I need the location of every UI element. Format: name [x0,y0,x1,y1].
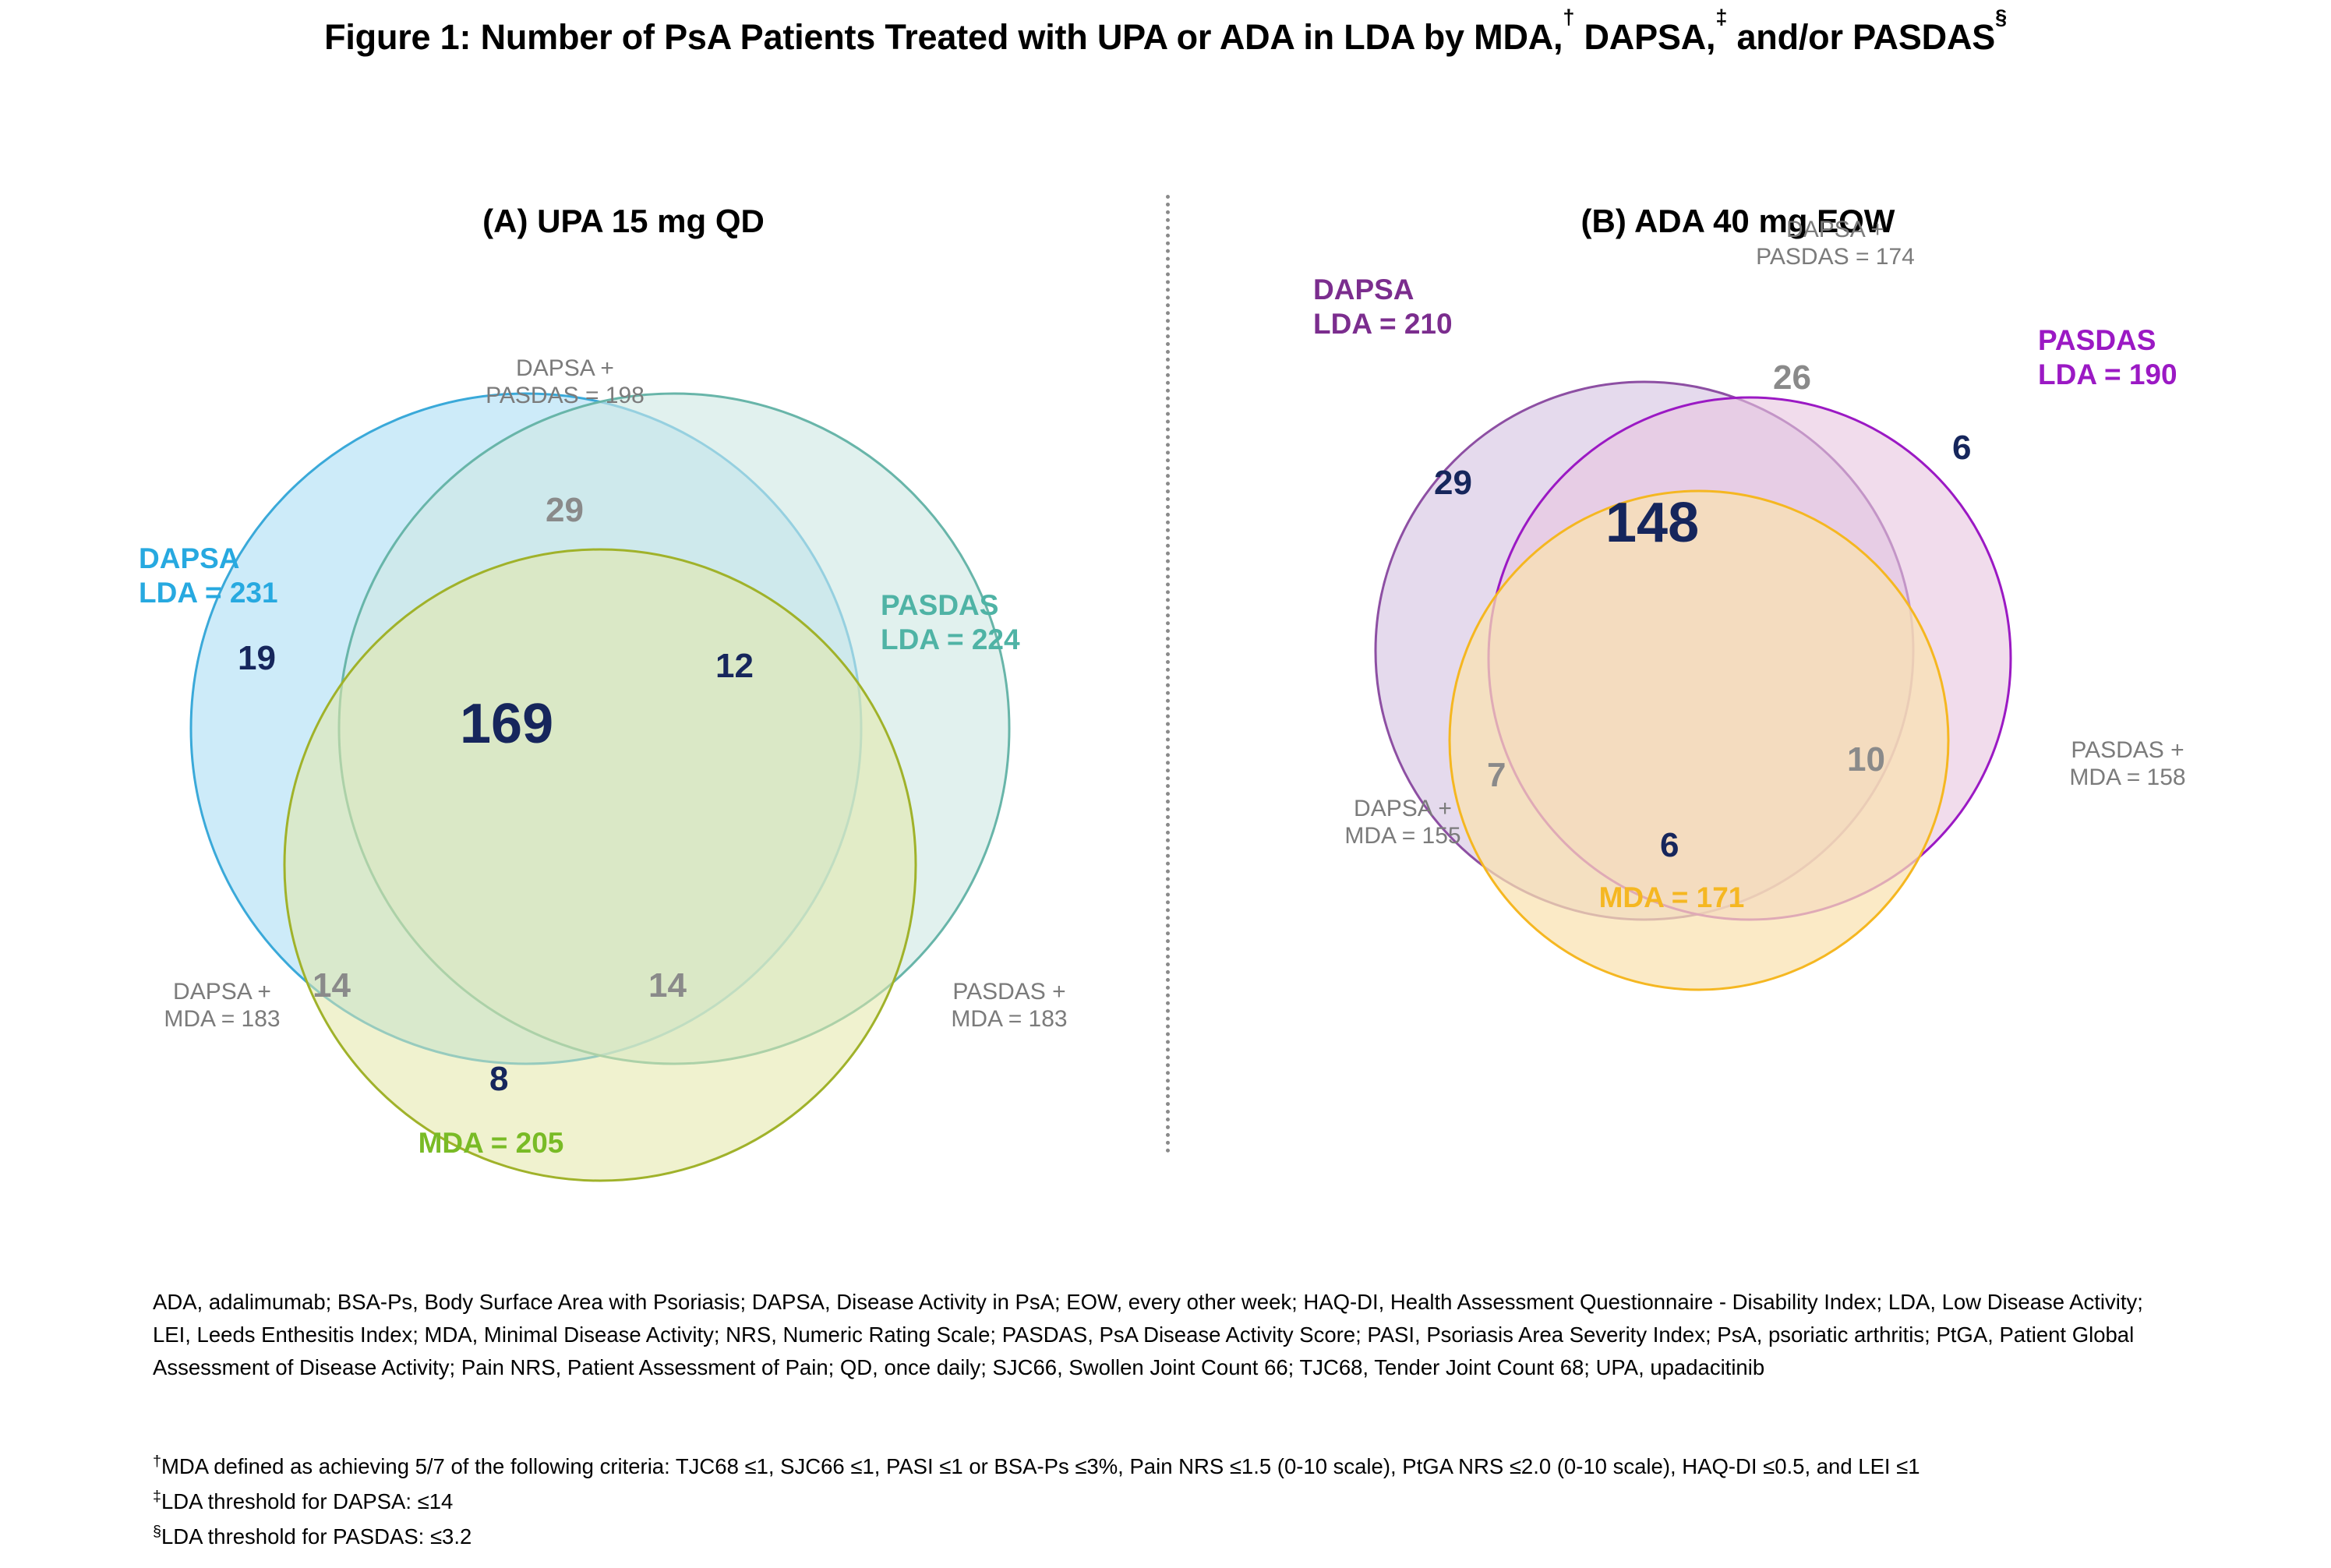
panel-a-count-dapsa-pasdas-only: 29 [546,491,584,530]
footnote-section-text: LDA threshold for PASDAS: ≤3.2 [161,1524,471,1549]
panel-a-pasdas-line1: PASDAS [881,589,998,621]
panel-b-ada: (B) ADA 40 mg EOW DAPSA + PASDAS = 174 D… [1200,179,2276,1192]
figure-title-main: Figure 1: Number of PsA Patients Treated… [324,17,1563,57]
panel-divider [1166,195,1170,1153]
panel-a-pasdas-mda-total-label: PASDAS + MDA = 183 [904,978,1114,1033]
panel-b-count-pasdas-mda-only: 10 [1847,740,1885,779]
panel-b-dapsa-pasdas-line1: DAPSA + [1786,217,1884,242]
panel-b-pasdas-mda-line1: PASDAS + [2071,737,2184,763]
figure-title-mid2: and/or PASDAS [1727,17,1995,57]
panel-b-dapsa-pasdas-total-label: DAPSA + PASDAS = 174 [1718,216,1952,271]
panel-a-dapsa-total-label: DAPSA LDA = 231 [139,542,278,609]
footnote-ddagger-marker: ‡ [153,1488,161,1505]
footnote-section: §LDA threshold for PASDAS: ≤3.2 [153,1520,2195,1553]
panel-a-count-pasdas-only: 12 [715,647,754,686]
panel-a-count-pasdas-mda-only: 14 [648,966,687,1005]
footnote-ddagger: ‡LDA threshold for DAPSA: ≤14 [153,1485,2195,1518]
figure-title-dagger: † [1563,5,1574,29]
panel-b-count-mda-only: 6 [1660,826,1679,865]
panel-b-count-dapsa-only: 29 [1434,464,1472,503]
panel-a-pasdas-total-label: PASDAS LDA = 224 [881,588,1020,656]
panel-a-dapsa-pasdas-line1: DAPSA + [516,355,614,381]
footnote-dagger: †MDA defined as achieving 5/7 of the fol… [153,1450,2195,1483]
footnote-dagger-text: MDA defined as achieving 5/7 of the foll… [161,1454,1920,1478]
panel-a-title: (A) UPA 15 mg QD [94,203,1153,240]
panel-a-dapsa-pasdas-line2: PASDAS = 198 [486,383,645,408]
abbreviations-text: ADA, adalimumab; BSA-Ps, Body Surface Ar… [153,1286,2179,1383]
panel-a-count-dapsa-only: 19 [238,639,276,678]
panel-a-dapsa-line2: LDA = 231 [139,577,278,609]
panel-a-dapsa-pasdas-total-label: DAPSA + PASDAS = 198 [448,355,682,410]
panel-a-pasdas-line2: LDA = 224 [881,623,1020,655]
panel-b-count-dapsa-mda-only: 7 [1487,756,1506,795]
panel-b-pasdas-line1: PASDAS [2038,324,2156,356]
panel-b-dapsa-total-label: DAPSA LDA = 210 [1313,273,1453,341]
panel-a-count-mda-only: 8 [489,1060,508,1099]
figure-title: Figure 1: Number of PsA Patients Treated… [0,17,2331,58]
venn-a-circle-mda [284,549,916,1181]
panel-a-count-dapsa-mda-only: 14 [313,966,351,1005]
figure-title-section: § [1995,5,2007,29]
panel-a-dapsa-line1: DAPSA [139,542,240,574]
panel-b-mda-total-label: MDA = 171 [1555,881,1789,915]
panel-b-count-pasdas-only: 6 [1952,429,1971,468]
panel-a-count-all-three: 169 [460,692,553,756]
panel-a-dapsa-mda-line2: MDA = 183 [164,1006,280,1032]
panel-b-pasdas-mda-line2: MDA = 158 [2069,765,2185,790]
panel-a-upa: (A) UPA 15 mg QD DAPSA + PASDAS = 198 DA… [94,179,1153,1192]
panel-a-pasdas-mda-line1: PASDAS + [952,979,1065,1005]
panel-a-mda-total-label: MDA = 205 [358,1126,623,1160]
panel-b-count-all-three: 148 [1605,491,1699,555]
panel-b-pasdas-mda-total-label: PASDAS + MDA = 158 [2022,736,2233,792]
footnotes: †MDA defined as achieving 5/7 of the fol… [153,1450,2195,1555]
panel-a-venn [94,296,1153,1192]
footnote-ddagger-text: LDA threshold for DAPSA: ≤14 [161,1489,453,1513]
figure-title-ddagger: ‡ [1715,5,1727,29]
footnote-section-marker: § [153,1523,161,1540]
panel-b-pasdas-line2: LDA = 190 [2038,358,2177,390]
panel-b-dapsa-line1: DAPSA [1313,274,1414,305]
panel-b-dapsa-mda-total-label: DAPSA + MDA = 155 [1301,795,1504,850]
footnote-dagger-marker: † [153,1453,161,1470]
panel-a-pasdas-mda-line2: MDA = 183 [951,1006,1067,1032]
panel-b-dapsa-line2: LDA = 210 [1313,308,1453,340]
figure-title-mid1: DAPSA, [1574,17,1715,57]
panel-b-count-dapsa-pasdas-only: 26 [1773,358,1811,397]
panel-a-venn-svg [94,296,1153,1192]
panel-b-dapsa-pasdas-line2: PASDAS = 174 [1756,244,1915,270]
panel-b-pasdas-total-label: PASDAS LDA = 190 [2038,323,2177,391]
panel-b-dapsa-mda-line2: MDA = 155 [1344,823,1460,849]
panel-a-dapsa-mda-total-label: DAPSA + MDA = 183 [121,978,323,1033]
panel-a-dapsa-mda-line1: DAPSA + [173,979,271,1005]
panel-b-dapsa-mda-line1: DAPSA + [1354,796,1452,821]
